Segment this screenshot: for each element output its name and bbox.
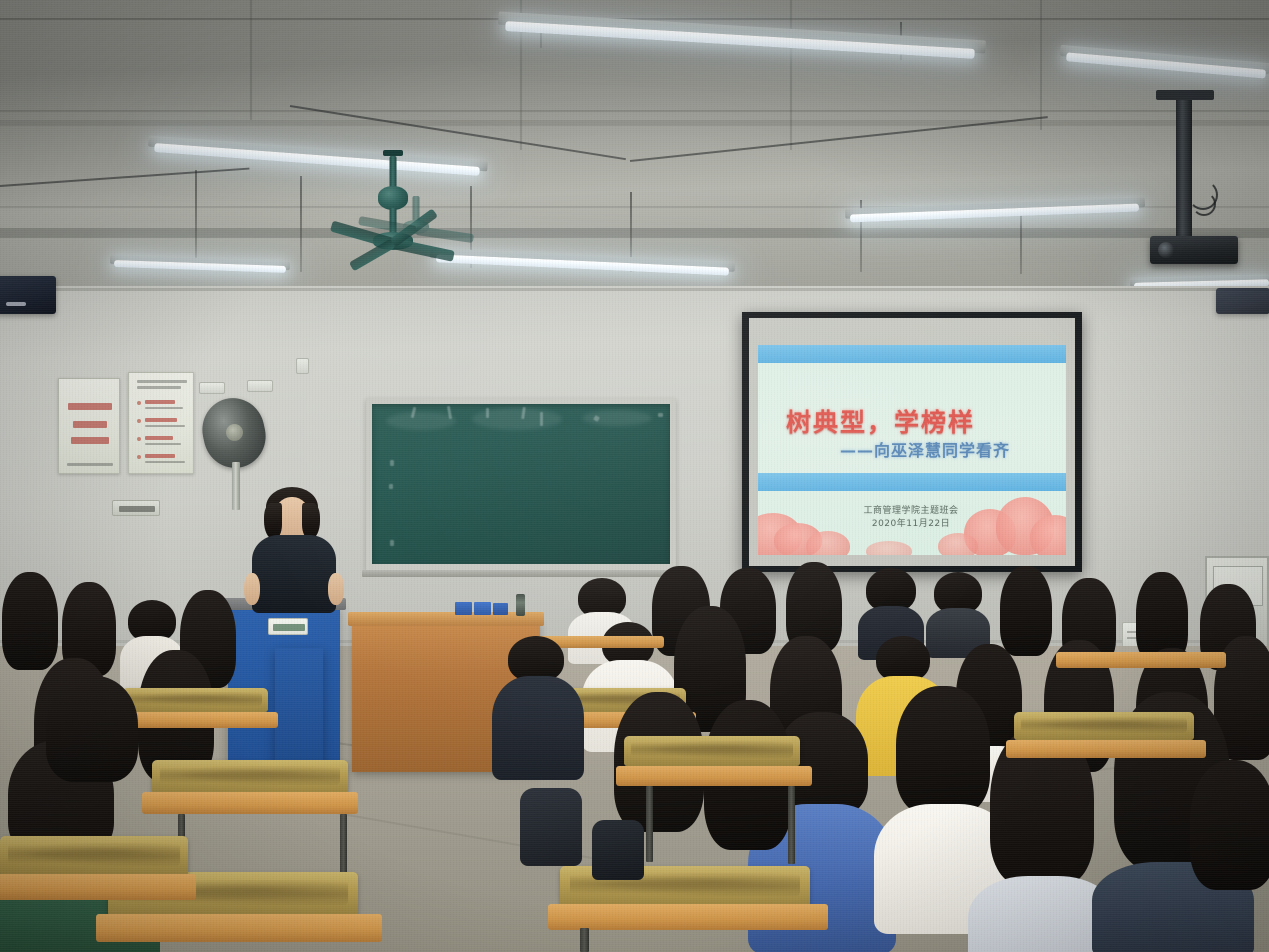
green-chalkboard — [366, 398, 676, 570]
slide-footer-date: 2020年11月22日 — [836, 516, 986, 529]
student-desk — [1006, 740, 1206, 758]
student-desk — [142, 792, 358, 814]
chalk-tray — [362, 570, 680, 577]
wall-box — [199, 382, 225, 394]
projected-slide: 树典型，学榜样 ——向巫泽慧同学看齐 工商管理学院主题班会 2020年11月22… — [758, 345, 1066, 555]
student-front-row — [1190, 760, 1269, 952]
student-desk — [96, 914, 382, 942]
backpack — [520, 788, 582, 866]
projector-mount-pole — [1176, 96, 1192, 242]
wall-plaque — [112, 500, 160, 516]
slide-title: 树典型，学榜样 — [786, 403, 975, 439]
slogan-poster — [58, 378, 120, 474]
wall-box — [247, 380, 273, 392]
flower-decoration — [938, 533, 978, 555]
desk-leg — [788, 786, 795, 864]
bench-back — [1014, 712, 1194, 740]
flower-decoration — [806, 531, 850, 555]
fan-post — [232, 462, 240, 510]
student-desk — [0, 874, 196, 900]
projector-cable — [1192, 192, 1216, 216]
light-hanger-rod — [1020, 206, 1022, 274]
screen-surface: 树典型，学榜样 ——向巫泽慧同学看齐 工商管理学院主题班会 2020年11月22… — [749, 318, 1075, 566]
wall-socket — [296, 358, 309, 374]
fan-hub — [226, 424, 243, 441]
desk-item-blue-box — [474, 602, 491, 615]
lectern-sign — [268, 618, 308, 635]
slide-footer-org: 工商管理学院主题班会 — [836, 503, 986, 516]
water-bottle — [516, 594, 525, 616]
ceiling-fan — [356, 196, 476, 276]
teacher-desk-top — [348, 612, 544, 626]
flower-decoration — [866, 541, 912, 555]
desk-item-blue-box — [455, 602, 472, 615]
student-front-row — [34, 676, 154, 816]
desk-item-blue-box — [493, 603, 508, 615]
wall-speaker — [0, 276, 56, 314]
student-desk — [548, 904, 828, 930]
desk-leg — [646, 786, 653, 862]
classroom-photo: 树典型，学榜样 ——向巫泽慧同学看齐 工商管理学院主题班会 2020年11月22… — [0, 0, 1269, 952]
student-desk — [616, 766, 812, 786]
light-hanger-rod — [300, 176, 302, 272]
backpack — [592, 820, 644, 880]
student-desk — [1056, 652, 1226, 668]
bench-back — [624, 736, 800, 766]
presenter — [252, 487, 348, 612]
projector-ceiling-plate — [1156, 90, 1214, 100]
slide-subtitle: ——向巫泽慧同学看齐 — [840, 437, 1010, 461]
projector-lens — [1158, 242, 1174, 258]
light-hanger-rod — [195, 170, 197, 262]
bench-back — [152, 760, 348, 794]
wall-speaker — [1216, 288, 1269, 314]
projection-screen: 树典型，学榜样 ——向巫泽慧同学看齐 工商管理学院主题班会 2020年11月22… — [742, 312, 1082, 572]
notice-poster — [128, 372, 194, 474]
slide-bottom-accent-bar — [758, 473, 1066, 491]
slide-top-accent-bar — [758, 345, 1066, 363]
bench-back — [0, 836, 188, 876]
desk-leg — [580, 928, 589, 952]
